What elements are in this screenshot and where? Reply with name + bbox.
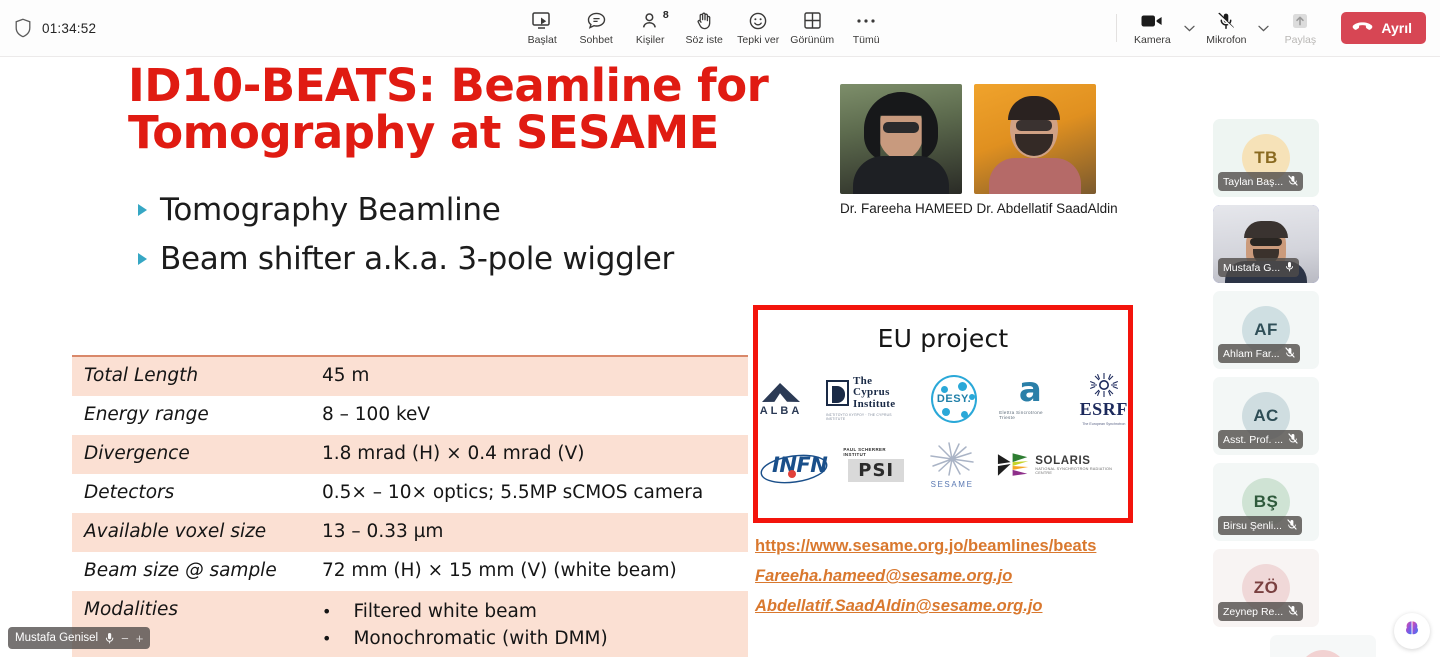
shared-content-stage[interactable]: ID10-BEATS: Beamline for Tomography at S… <box>0 57 1205 657</box>
copilot-button[interactable] <box>1394 613 1430 649</box>
photo-abdellatif-saadaldin <box>974 84 1096 194</box>
microphone-button[interactable]: Mikrofon <box>1199 4 1253 52</box>
infn-red-dot-icon <box>788 470 796 478</box>
fareeha-email-link[interactable]: Fareeha.hameed@sesame.org.jo <box>755 567 1096 586</box>
present-button-label: Başlat <box>528 34 557 46</box>
table-row: Modalities • Filtered white beam • Monoc… <box>72 591 748 657</box>
bullet-item: Tomography Beamline <box>138 192 938 228</box>
chat-button[interactable]: Sohbet <box>569 4 623 52</box>
cyprus-institute-line-1: The Cyprus <box>853 376 909 399</box>
spec-key: Energy range <box>72 396 322 433</box>
microphone-button-label: Mikrofon <box>1206 34 1246 46</box>
beamline-url-link[interactable]: https://www.sesame.org.jo/beamlines/beat… <box>755 537 1096 556</box>
participant-name-chip: Mustafa G... <box>1218 258 1299 277</box>
microphone-chevron-down-icon[interactable] <box>1253 4 1273 52</box>
psi-logo-text: PSI <box>858 460 894 481</box>
hangup-button[interactable]: Ayrıl <box>1341 12 1426 44</box>
eu-project-title: EU project <box>758 324 1128 353</box>
desy-logo-text: DESY. <box>937 393 971 405</box>
esrf-logo: ESRF The European Synchrotron <box>1080 371 1128 426</box>
eu-project-box: EU project ALBA The Cyprus Institute <box>753 305 1133 523</box>
reactions-button-label: Tepki ver <box>737 34 779 46</box>
toolbar-left-group: 01:34:52 <box>0 18 300 38</box>
participant-tile-imran[interactable]: IK imran kan... <box>1270 635 1376 657</box>
triangle-bullet-icon <box>138 204 147 216</box>
infn-ellipse-icon <box>758 453 830 485</box>
reactions-button[interactable]: Tepki ver <box>731 4 785 52</box>
participant-roster: TB Taylan Baş... Mustafa G... <box>1205 57 1440 657</box>
mic-muted-icon <box>1287 519 1297 533</box>
more-ellipsis-icon <box>855 10 877 31</box>
participant-grid: TB Taylan Baş... Mustafa G... <box>1213 119 1432 657</box>
teams-meeting-window: 01:34:52 Başlat Sohbet 8 <box>0 0 1440 657</box>
solaris-logo: SOLARIS NATIONAL SYNCHROTRON RADIATION C… <box>995 450 1128 480</box>
camera-button-label: Kamera <box>1134 34 1171 46</box>
video-glasses <box>1250 238 1282 246</box>
participant-name: Birsu Şenli... <box>1223 520 1282 532</box>
mic-muted-icon <box>1288 175 1298 189</box>
abdellatif-email-link[interactable]: Abdellatif.SaadAldin@sesame.org.jo <box>755 597 1096 616</box>
spec-key: Detectors <box>72 474 322 511</box>
video-hair <box>1244 221 1288 238</box>
self-view-name-bar[interactable]: Mustafa Genisel − + <box>8 627 150 649</box>
participant-tile-asst-prof[interactable]: AC Asst. Prof. ... <box>1213 377 1319 455</box>
bullet-dot-icon: • <box>322 600 331 623</box>
slide-title: ID10-BEATS: Beamline for Tomography at S… <box>128 62 848 157</box>
participant-name-chip: Asst. Prof. ... <box>1218 430 1303 449</box>
list-item: • Monochromatic (with DMM) <box>322 626 608 653</box>
participant-tile-zeynep[interactable]: ZÖ Zeynep Re... <box>1213 549 1319 627</box>
spec-value: 8 – 100 keV <box>322 396 438 433</box>
meeting-timer: 01:34:52 <box>42 21 96 36</box>
raise-hand-button[interactable]: Söz iste <box>677 4 731 52</box>
beamline-spec-table: Total Length 45 m Energy range 8 – 100 k… <box>72 355 748 657</box>
presentation-slide: ID10-BEATS: Beamline for Tomography at S… <box>70 57 1140 657</box>
raise-hand-button-label: Söz iste <box>686 34 723 46</box>
present-screen-icon <box>531 10 553 31</box>
spec-key: Divergence <box>72 435 322 472</box>
participant-tile-taylan[interactable]: TB Taylan Baş... <box>1213 119 1319 197</box>
self-view-name: Mustafa Genisel <box>15 632 98 644</box>
share-up-arrow-icon <box>1290 10 1310 31</box>
solaris-mark-icon <box>995 450 1030 480</box>
people-count-badge: 8 <box>663 9 669 21</box>
participant-name: Asst. Prof. ... <box>1223 434 1283 446</box>
people-icon: 8 <box>641 10 660 31</box>
participant-tile-mustafa[interactable]: Mustafa G... <box>1213 205 1319 283</box>
presenter-caption: Dr. Fareeha HAMEED Dr. Abdellatif SaadAl… <box>840 201 1140 216</box>
meeting-toolbar: 01:34:52 Başlat Sohbet 8 <box>0 0 1440 57</box>
participant-name: Taylan Baş... <box>1223 176 1283 188</box>
sesame-logo-text: SESAME <box>931 480 974 489</box>
contact-links: https://www.sesame.org.jo/beamlines/beat… <box>755 537 1096 627</box>
cyprus-institute-mark-icon <box>826 380 849 406</box>
triangle-bullet-icon <box>138 253 147 265</box>
hangup-phone-icon <box>1352 20 1373 36</box>
spec-value: 72 mm (H) × 15 mm (V) (white beam) <box>322 552 685 589</box>
partner-logos-row-2: INFN PAUL SCHERRER INSTITUT PSI <box>758 440 1128 489</box>
psi-logo-top-text: PAUL SCHERRER INSTITUT <box>843 447 909 457</box>
participant-tile-birsu[interactable]: BŞ Birsu Şenli... <box>1213 463 1319 541</box>
participant-tile-ahlam[interactable]: AF Ahlam Far... <box>1213 291 1319 369</box>
camera-button[interactable]: Kamera <box>1125 4 1179 52</box>
list-item: • Filtered white beam <box>322 599 608 626</box>
camera-icon <box>1140 10 1164 31</box>
bullet-text: Tomography Beamline <box>160 192 501 228</box>
table-row: Available voxel size 13 – 0.33 µm <box>72 513 748 552</box>
toolbar-center-group: Başlat Sohbet 8 Kişiler <box>300 4 1108 52</box>
avatar: IK <box>1299 650 1347 657</box>
bullet-text: Beam shifter a.k.a. 3-pole wiggler <box>160 241 674 277</box>
spec-value: 13 – 0.33 µm <box>322 513 451 550</box>
bullet-item: Beam shifter a.k.a. 3-pole wiggler <box>138 241 938 277</box>
participant-name-chip: Zeynep Re... <box>1218 602 1303 621</box>
more-button-label: Tümü <box>853 34 880 46</box>
alba-logo-text: ALBA <box>760 405 803 417</box>
list-item-text: Filtered white beam <box>353 599 536 626</box>
photo-fareeha-hameed <box>840 84 962 194</box>
esrf-logo-text: ESRF <box>1080 399 1128 420</box>
chat-bubble-icon <box>586 10 607 31</box>
infn-logo: INFN <box>758 453 827 477</box>
spec-key: Beam size @ sample <box>72 552 322 589</box>
list-item-text: Monochromatic (with DMM) <box>353 626 607 653</box>
toolbar-right-group: Kamera Mikrofon Paylaş <box>1108 4 1440 52</box>
presenter-photos: Dr. Fareeha HAMEED Dr. Abdellatif SaadAl… <box>840 84 1140 216</box>
slide-bullet-list: Tomography Beamline Beam shifter a.k.a. … <box>138 192 938 290</box>
microphone-muted-icon <box>1216 10 1236 31</box>
partner-logos-row-1: ALBA The Cyprus Institute ΙΝΣΤΙΤΟΥΤΟ ΚΥΠ… <box>758 371 1128 426</box>
spec-value: 1.8 mrad (H) × 0.4 mrad (V) <box>322 435 592 472</box>
sesame-burst-icon <box>925 440 979 478</box>
mic-icon <box>1285 261 1294 275</box>
elettra-mark-icon: a <box>1019 377 1038 404</box>
table-row: Divergence 1.8 mrad (H) × 0.4 mrad (V) <box>72 435 748 474</box>
copilot-brain-icon <box>1401 618 1423 645</box>
spec-key: Total Length <box>72 357 322 394</box>
raise-hand-icon <box>695 10 713 31</box>
shield-icon <box>14 18 32 38</box>
microphone-icon <box>105 632 114 644</box>
view-button-label: Görünüm <box>790 34 834 46</box>
psi-logo: PAUL SCHERRER INSTITUT PSI <box>843 447 909 482</box>
alba-logo: ALBA <box>758 380 804 417</box>
present-button[interactable]: Başlat <box>515 4 569 52</box>
table-row: Total Length 45 m <box>72 357 748 396</box>
toolbar-divider <box>1116 14 1117 42</box>
cyprus-institute-line-2: Institute <box>853 399 909 411</box>
mic-muted-icon <box>1285 347 1295 361</box>
cyprus-institute-logo: The Cyprus Institute ΙΝΣΤΙΤΟΥΤΟ ΚΥΠΡΟΥ ·… <box>826 376 909 422</box>
desy-logo: DESY. <box>931 375 977 423</box>
view-button[interactable]: Görünüm <box>785 4 839 52</box>
table-row: Detectors 0.5× – 10× optics; 5.5MP sCMOS… <box>72 474 748 513</box>
camera-chevron-down-icon[interactable] <box>1179 4 1199 52</box>
mic-muted-icon <box>1288 433 1298 447</box>
participant-name: Zeynep Re... <box>1223 606 1283 618</box>
spec-key: Modalities <box>72 591 322 628</box>
participant-name-chip: Ahlam Far... <box>1218 344 1300 363</box>
psi-logo-bar: PSI <box>848 459 904 482</box>
spec-key: Available voxel size <box>72 513 322 550</box>
cyprus-institute-footnote: ΙΝΣΤΙΤΟΥΤΟ ΚΥΠΡΟΥ · THE CYPRUS INSTITUTE <box>826 413 909 421</box>
grid-layout-icon <box>803 10 822 31</box>
participant-name-chip: Birsu Şenli... <box>1218 516 1302 535</box>
chat-button-label: Sohbet <box>580 34 613 46</box>
table-row: Beam size @ sample 72 mm (H) × 15 mm (V)… <box>72 552 748 591</box>
table-row: Energy range 8 – 100 keV <box>72 396 748 435</box>
participant-name-chip: Taylan Baş... <box>1218 172 1303 191</box>
esrf-burst-icon <box>1087 371 1121 399</box>
participant-name: Mustafa G... <box>1223 262 1280 274</box>
alba-mark-icon <box>758 380 804 404</box>
spec-value: 45 m <box>322 357 377 394</box>
solaris-logo-subtitle: NATIONAL SYNCHROTRON RADIATION CENTRE <box>1035 467 1128 475</box>
elettra-logo-subtitle: Elettra Sincrotrone Trieste <box>999 410 1057 420</box>
spec-value: 0.5× – 10× optics; 5.5MP sCMOS camera <box>322 474 711 511</box>
participant-name: Ahlam Far... <box>1223 348 1280 360</box>
mic-muted-icon <box>1288 605 1298 619</box>
bullet-dot-icon: • <box>322 627 331 650</box>
share-button[interactable]: Paylaş <box>1273 4 1327 52</box>
esrf-logo-subtitle: The European Synchrotron <box>1082 422 1125 426</box>
spec-value-list: • Filtered white beam • Monochromatic (w… <box>322 591 616 657</box>
smiley-icon <box>748 10 768 31</box>
sesame-logo: SESAME <box>925 440 979 489</box>
zoom-out-button[interactable]: − <box>121 632 129 645</box>
more-button[interactable]: Tümü <box>839 4 893 52</box>
zoom-in-button[interactable]: + <box>136 632 144 645</box>
people-button[interactable]: 8 Kişiler <box>623 4 677 52</box>
hangup-button-label: Ayrıl <box>1381 20 1412 36</box>
elettra-logo: a Elettra Sincrotrone Trieste <box>999 377 1057 419</box>
people-button-label: Kişiler <box>636 34 665 46</box>
share-button-label: Paylaş <box>1285 34 1317 46</box>
solaris-logo-text: SOLARIS <box>1035 455 1128 467</box>
